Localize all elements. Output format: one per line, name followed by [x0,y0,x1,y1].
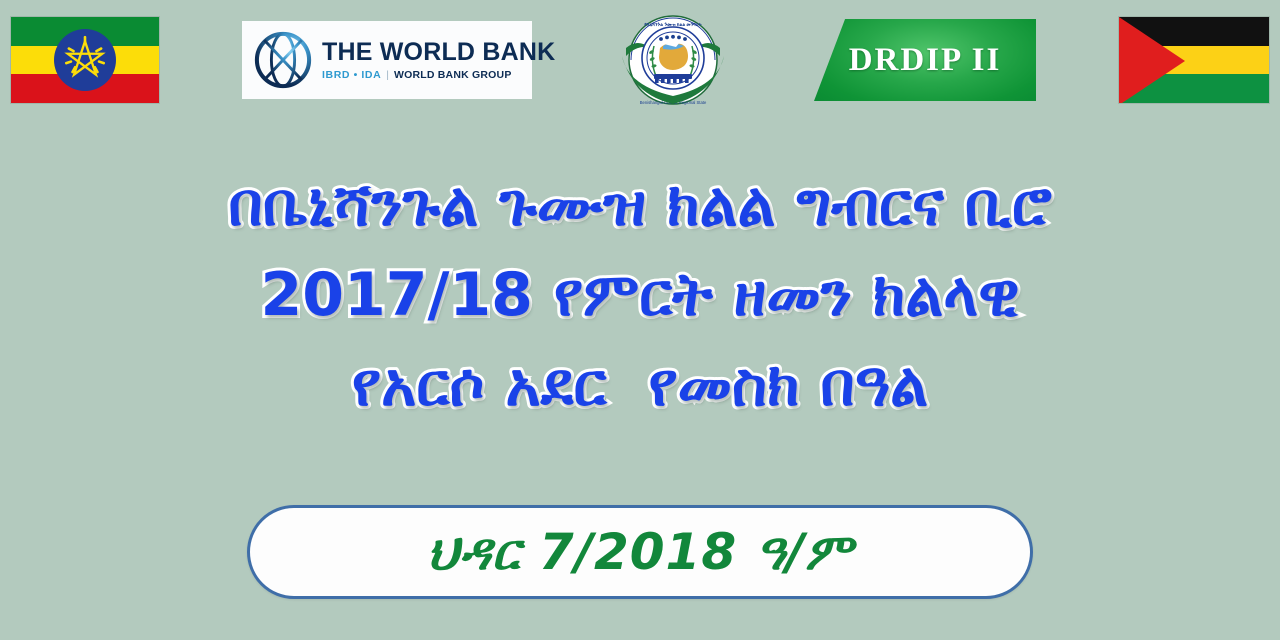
world-bank-logo: THE WORLD BANK IBRD • IDA | WORLD BANK G… [242,21,532,99]
date-badge: ህዳር 7/2018 ዓ/ም [247,505,1033,599]
benishangul-gumuz-emblem-icon: የቤኒሻንጉል ጉሙዝ ክልል መንግስት Benishangul-Gumuz … [614,8,732,113]
title-line-2: ቉2017/18 የምርት ዘመን ክልላዊ [0,250,1280,340]
date-badge-text: ህዳር 7/2018 ዓ/ም [427,523,853,582]
drdip-label: DRDIP II [849,42,1002,79]
world-bank-group-label: WORLD BANK GROUP [394,69,512,81]
logo-slot-world-bank: THE WORLD BANK IBRD • IDA | WORLD BANK G… [242,21,532,99]
world-bank-title: THE WORLD BANK [322,39,555,65]
title-line-1: በቤኒሻንጉል ጉሙዝ ክልል ግብርና ቢሮ [0,160,1280,250]
logo-slot-regional-flag [1118,16,1270,104]
date-badge-wrapper: ህዳር 7/2018 ዓ/ም [0,505,1280,599]
title-line-3: የአርሶ አደር የመስክ በዓል [0,340,1280,430]
drdip-ii-logo: DRDIP II [814,19,1036,101]
world-bank-divider: | [386,69,389,81]
page-title: በቤኒሻንጉል ጉሙዝ ክልል ግብርና ቢሮ ቉2017/18 የምርት ዘመ… [0,160,1280,430]
header-logo-strip: THE WORLD BANK IBRD • IDA | WORLD BANK G… [0,0,1280,120]
globe-icon [254,31,312,89]
benishangul-gumuz-flag-icon [1118,16,1270,104]
world-bank-wordmark: THE WORLD BANK IBRD • IDA | WORLD BANK G… [322,39,555,80]
world-bank-subtitle: IBRD • IDA | WORLD BANK GROUP [322,69,555,81]
ethiopia-flag-icon [10,16,160,104]
emblem-seal-icon: የቤኒሻንጉል ጉሙዝ ክልል መንግስት Benishangul-Gumuz … [614,8,732,113]
flag-red-triangle [1119,17,1185,104]
logo-slot-drdip: DRDIP II [814,19,1036,101]
world-bank-ibrd-ida: IBRD • IDA [322,69,381,81]
logo-slot-regional-emblem: የቤኒሻንጉል ጉሙዝ ክልል መንግስት Benishangul-Gumuz … [614,8,732,113]
ethiopia-star-icon [59,34,111,86]
logo-slot-ethiopia-flag [10,16,160,104]
